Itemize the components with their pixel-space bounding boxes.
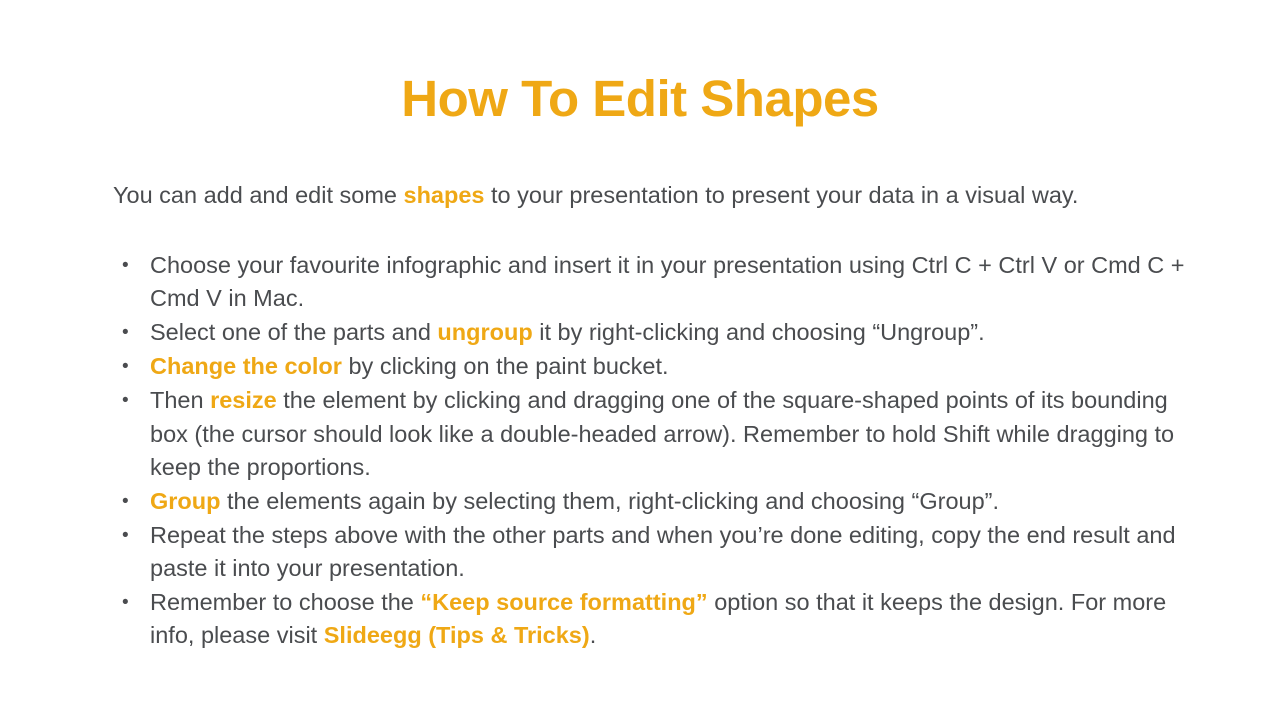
list-item-text-part2: by clicking on the paint bucket. (342, 353, 669, 379)
list-item-highlight: ungroup (437, 319, 532, 345)
intro-text-part1: You can add and edit some (113, 182, 404, 208)
list-item-highlight: Change the color (150, 353, 342, 379)
list-item-highlight: Group (150, 488, 221, 514)
list-item-text-part2: the element by clicking and dragging one… (150, 387, 1174, 480)
list-item-text-part1: Remember to choose the (150, 589, 420, 615)
list-item-text-part1: Then (150, 387, 210, 413)
intro-highlight-shapes: shapes (404, 182, 485, 208)
list-item: Group the elements again by selecting th… (113, 485, 1185, 518)
list-item-highlight-2: Slideegg (Tips & Tricks) (324, 622, 590, 648)
list-item: Remember to choose the “Keep source form… (113, 586, 1185, 653)
slide-canvas: How To Edit Shapes You can add and edit … (0, 0, 1280, 720)
list-item: Select one of the parts and ungroup it b… (113, 316, 1185, 349)
list-item-text-part3: . (590, 622, 597, 648)
list-item: Repeat the steps above with the other pa… (113, 519, 1185, 586)
list-item-text-part1: Choose your favourite infographic and in… (150, 252, 1184, 311)
list-item: Then resize the element by clicking and … (113, 384, 1185, 484)
page-title: How To Edit Shapes (0, 68, 1280, 130)
list-item-text-part2: it by right-clicking and choosing “Ungro… (533, 319, 985, 345)
list-item-highlight: “Keep source formatting” (420, 589, 707, 615)
list-item-highlight: resize (210, 387, 277, 413)
list-item-text-part2: the elements again by selecting them, ri… (221, 488, 1000, 514)
intro-paragraph: You can add and edit some shapes to your… (113, 179, 1185, 212)
list-item-text-part1: Select one of the parts and (150, 319, 437, 345)
intro-text-part2: to your presentation to present your dat… (485, 182, 1079, 208)
list-item: Choose your favourite infographic and in… (113, 249, 1185, 316)
list-item: Change the color by clicking on the pain… (113, 350, 1185, 383)
list-item-text-part1: Repeat the steps above with the other pa… (150, 522, 1176, 581)
instructions-list: Choose your favourite infographic and in… (113, 249, 1185, 653)
